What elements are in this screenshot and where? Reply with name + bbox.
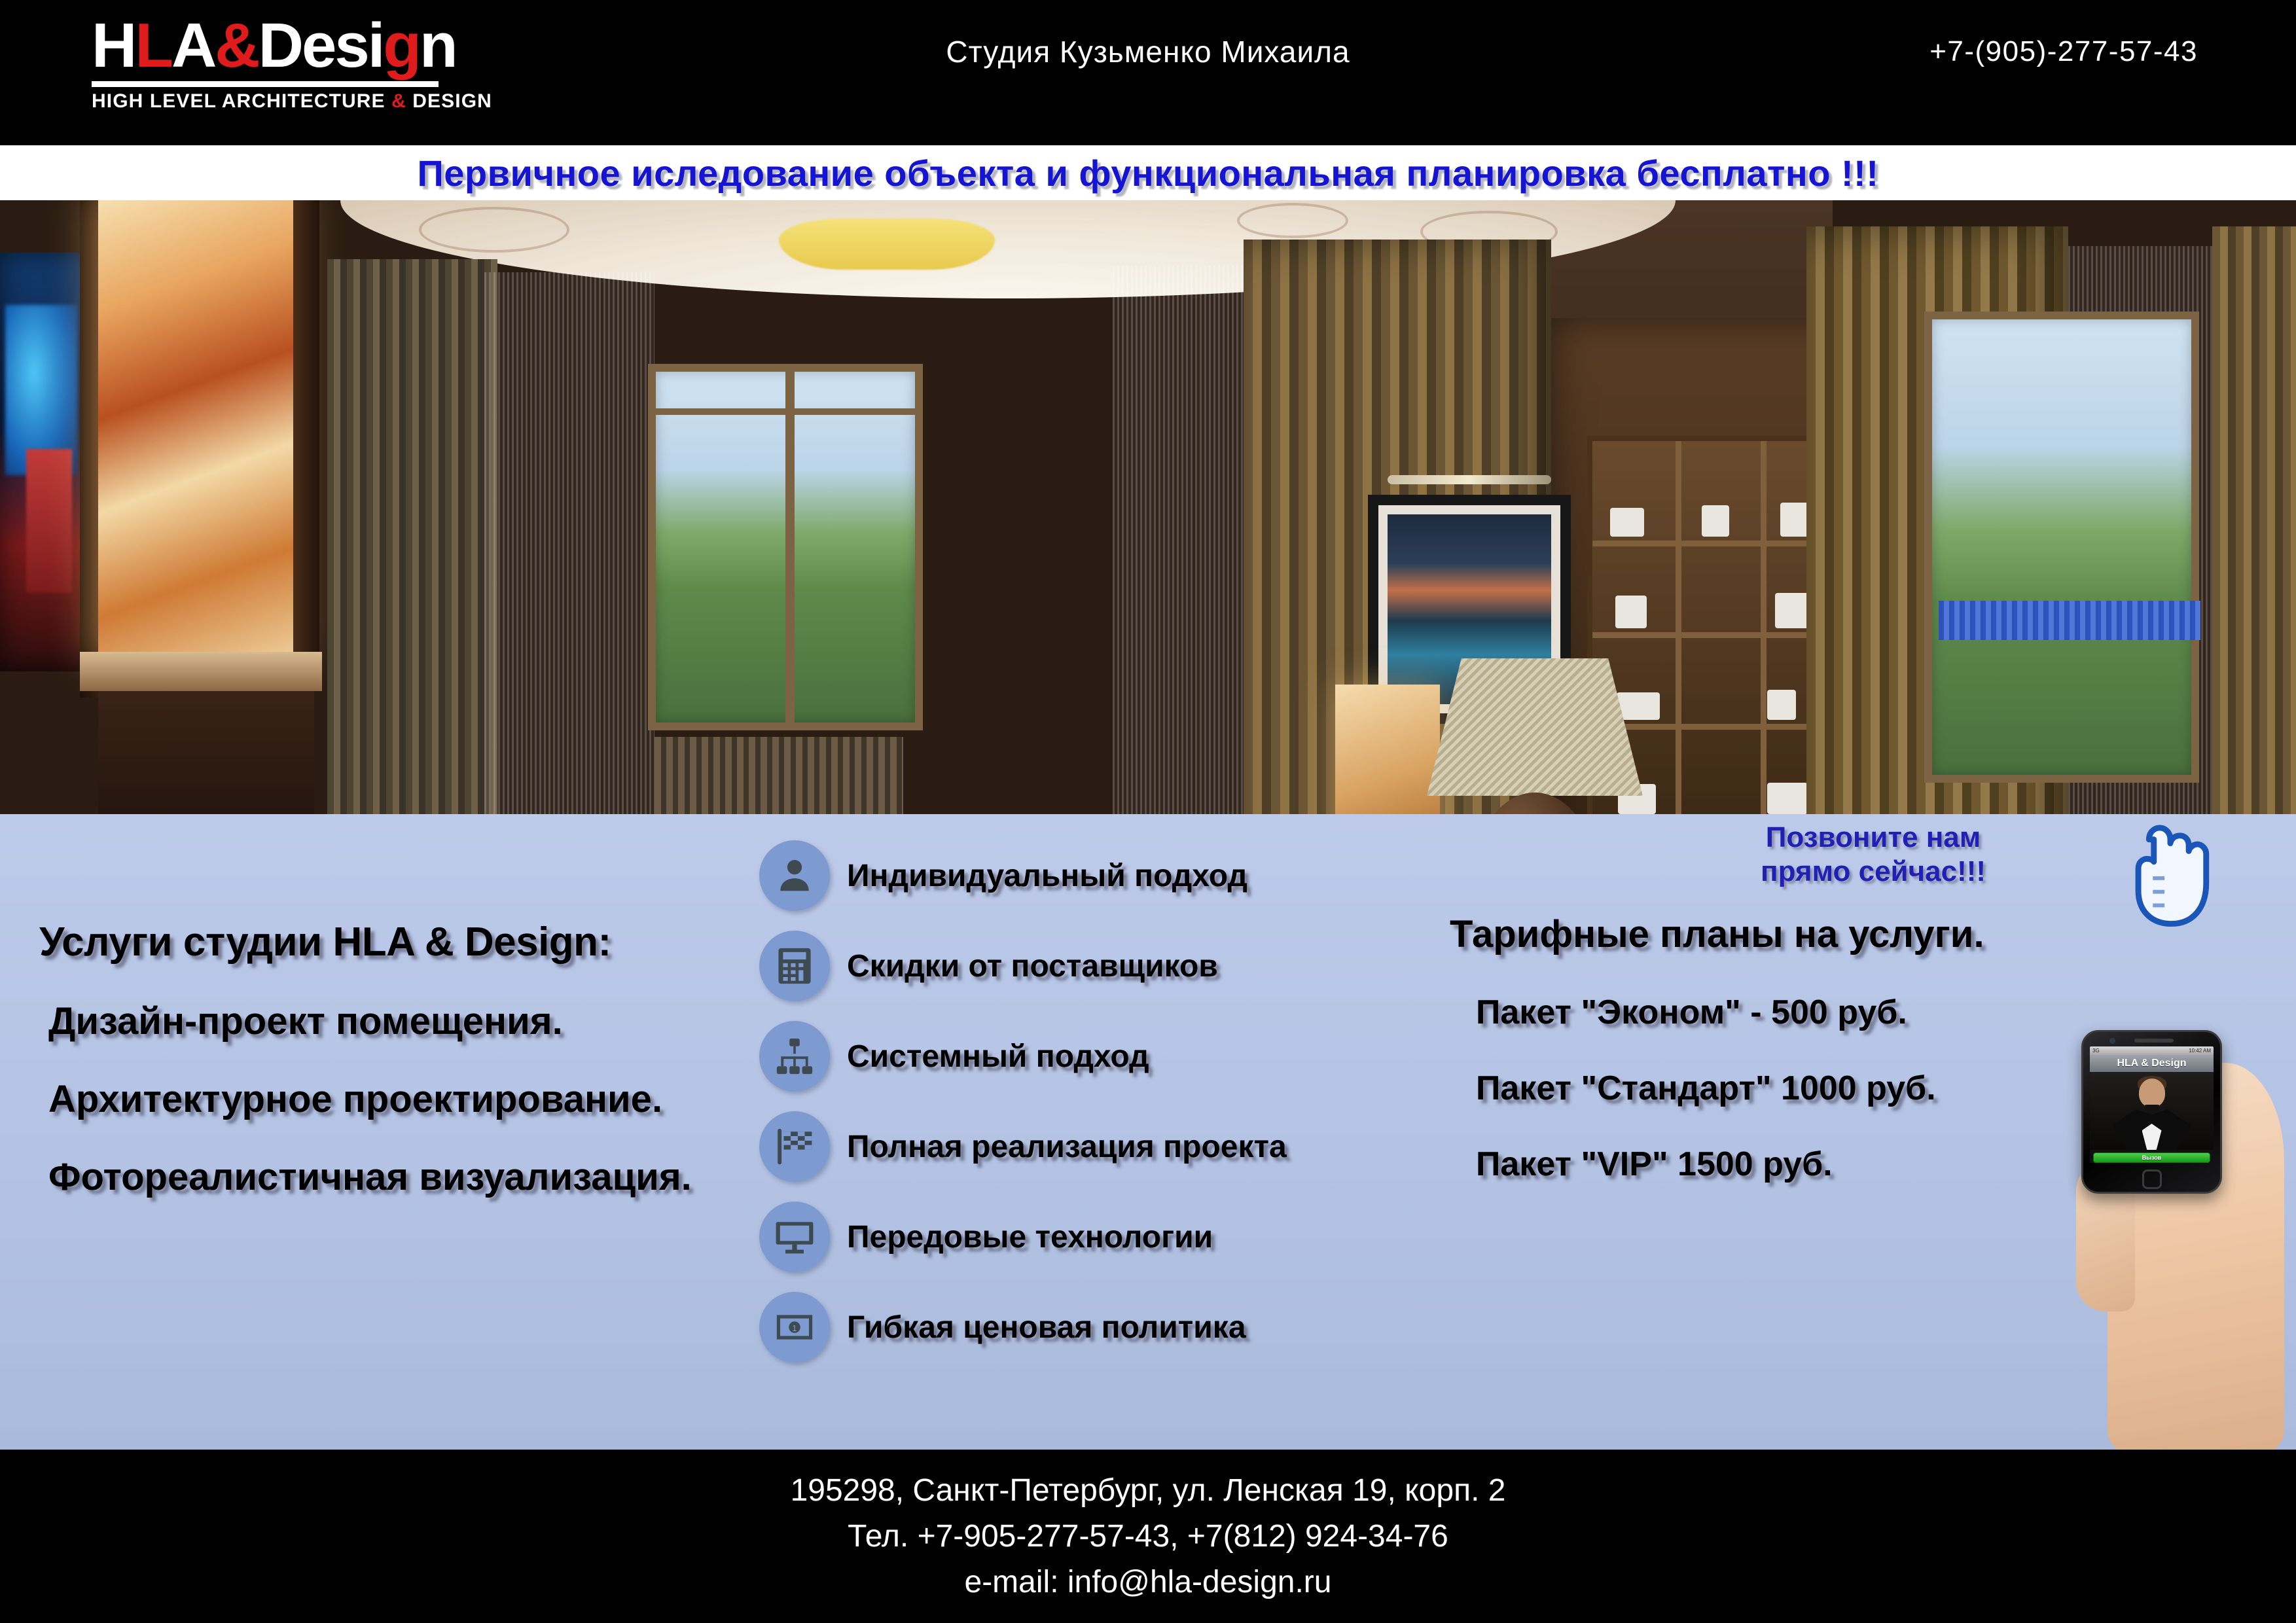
phone-call-button[interactable]: Вызов: [2093, 1152, 2210, 1163]
logo-tagline: HIGH LEVEL ARCHITECTURE & DESIGN: [92, 90, 458, 113]
picture-light: [1388, 475, 1551, 484]
phone-home-button[interactable]: [2142, 1169, 2162, 1189]
onyx-frame-right: [293, 200, 319, 658]
phone-screen: 3G 10:42 AM HLA & Design Вызов: [2090, 1046, 2214, 1163]
fireplace: [98, 691, 314, 814]
service-item-2: Архитектурное проектирование.: [39, 1077, 753, 1121]
shelf-divider: [1676, 441, 1681, 814]
ceiling-swirl: [419, 207, 569, 253]
shelf: [1592, 724, 1837, 730]
sheer-curtain: [484, 272, 655, 814]
phone-speaker: [2134, 1039, 2174, 1043]
radiator: [655, 737, 903, 814]
phone-signal-label: 3G: [2092, 1048, 2100, 1054]
promo-banner: Первичное иследование объекта и функцион…: [0, 145, 2296, 200]
window-right: [1924, 312, 2199, 783]
sitemap-icon: [759, 1021, 830, 1092]
feature-label: Индивидуальный подход: [847, 858, 1247, 894]
shelf-divider: [1761, 441, 1767, 814]
crockery: [1615, 596, 1647, 628]
crockery: [1702, 505, 1729, 537]
pointing-hand-icon: [2119, 824, 2217, 955]
cta-line-2: прямо сейчас!!!: [1761, 855, 1986, 889]
services-column: Услуги студии HLA & Design: Дизайн-проек…: [39, 919, 753, 1199]
pricing-heading: Тарифные планы на услуги.: [1450, 912, 2117, 956]
sheer-curtain: [1113, 266, 1263, 814]
logo-tagline-a: HIGH LEVEL ARCHITECTURE: [92, 90, 391, 112]
table-lamp-shade: [1427, 658, 1643, 796]
smartphone-mockup[interactable]: 3G 10:42 AM HLA & Design Вызов: [2081, 1030, 2222, 1194]
left-art-red: [26, 449, 72, 593]
feature-label: Гибкая ценовая политика: [847, 1310, 1246, 1346]
promo-banner-text: Первичное иследование объекта и функцион…: [418, 152, 1879, 194]
shelf: [1592, 541, 1837, 546]
crockery: [1767, 783, 1808, 814]
feature-row-individual-approach[interactable]: Индивидуальный подход: [759, 834, 1466, 918]
footer-email[interactable]: e-mail: info@hla-design.ru: [965, 1560, 1332, 1605]
monitor-icon: [759, 1202, 830, 1272]
curtain-far-right: [2212, 226, 2296, 814]
window-transom: [656, 408, 915, 415]
window-left: [648, 364, 923, 730]
pricing-plan-standard: Пакет "Стандарт" 1000 руб.: [1450, 1069, 2117, 1108]
pricing-column: Тарифные планы на услуги. Пакет "Эконом"…: [1450, 912, 2117, 1184]
crockery: [1610, 508, 1644, 537]
phone-in-hand-illustration: 3G 10:42 AM HLA & Design Вызов: [2081, 965, 2296, 1449]
feature-label: Скидки от поставщиков: [847, 948, 1218, 984]
footer-contacts: 195298, Санкт-Петербург, ул. Ленская 19,…: [0, 1450, 2296, 1623]
feature-row-flexible-pricing[interactable]: 1 Гибкая ценовая политика: [759, 1285, 1466, 1369]
contact-bowtie: [2145, 1105, 2159, 1111]
phone-app-title: HLA & Design: [2090, 1055, 2214, 1072]
service-item-3: Фотореалистичная визуализация.: [39, 1155, 753, 1199]
footer-address: 195298, Санкт-Петербург, ул. Ленская 19,…: [791, 1468, 1506, 1514]
pricing-plan-econom: Пакет "Эконом" - 500 руб.: [1450, 993, 2117, 1032]
window-mullion: [785, 372, 795, 722]
content-panel: Услуги студии HLA & Design: Дизайн-проек…: [0, 814, 2296, 1450]
feature-row-advanced-technology[interactable]: Передовые технологии: [759, 1195, 1466, 1279]
onyx-sill: [80, 652, 322, 691]
phone-front-camera: [2109, 1038, 2115, 1044]
logo-tagline-b: DESIGN: [406, 90, 492, 112]
flag-icon: [759, 1111, 830, 1182]
feature-row-systematic-approach[interactable]: Системный подход: [759, 1014, 1466, 1098]
backlit-onyx-panel: [98, 200, 295, 652]
person-icon: [759, 840, 830, 911]
contact-face: [2139, 1079, 2165, 1107]
cta-line-1: Позвоните нам: [1761, 821, 1986, 855]
poster-page: HLA&Design HIGH LEVEL ARCHITECTURE & DES…: [0, 0, 2296, 1623]
call-to-action: Позвоните нам прямо сейчас!!!: [1761, 821, 1986, 889]
features-column: Индивидуальный подход Скидки от поставщи…: [759, 834, 1466, 1376]
logo-divider: [92, 81, 439, 87]
services-heading: Услуги студии HLA & Design:: [39, 919, 753, 965]
shelf: [1592, 632, 1837, 638]
hero-interior-image: [0, 200, 2296, 814]
crockery: [1775, 593, 1809, 628]
calculator-icon: [759, 931, 830, 1001]
ceiling-lamp: [779, 219, 995, 270]
crockery: [1617, 692, 1660, 720]
footer-phones[interactable]: Тел. +7-905-277-57-43, +7(812) 924-34-76: [848, 1514, 1448, 1560]
curtain-left: [327, 259, 497, 814]
svg-text:1: 1: [792, 1323, 797, 1333]
phone-status-bar: 3G 10:42 AM: [2090, 1046, 2214, 1055]
service-item-1: Дизайн-проект помещения.: [39, 999, 753, 1043]
feature-label: Полная реализация проекта: [847, 1129, 1287, 1165]
ceiling-swirl: [1237, 203, 1348, 238]
interior-render: [0, 200, 2296, 814]
logo-tagline-amp: &: [391, 90, 406, 112]
window-fence: [1939, 601, 2200, 640]
top-bar: HLA&Design HIGH LEVEL ARCHITECTURE & DES…: [0, 0, 2296, 145]
feature-label: Передовые технологии: [847, 1219, 1213, 1255]
pricing-plan-vip: Пакет "VIP" 1500 руб.: [1450, 1145, 2117, 1184]
crockery: [1767, 690, 1796, 720]
onyx-pillar-lamp: [1335, 685, 1440, 814]
phone-clock: 10:42 AM: [2189, 1048, 2211, 1054]
feature-row-supplier-discounts[interactable]: Скидки от поставщиков: [759, 924, 1466, 1008]
feature-row-full-implementation[interactable]: Полная реализация проекта: [759, 1105, 1466, 1188]
phone-contact-photo: [2090, 1072, 2214, 1150]
header-phone-number[interactable]: +7-(905)-277-57-43: [1929, 35, 2198, 68]
feature-label: Системный подход: [847, 1039, 1149, 1075]
banknote-icon: 1: [759, 1292, 830, 1363]
